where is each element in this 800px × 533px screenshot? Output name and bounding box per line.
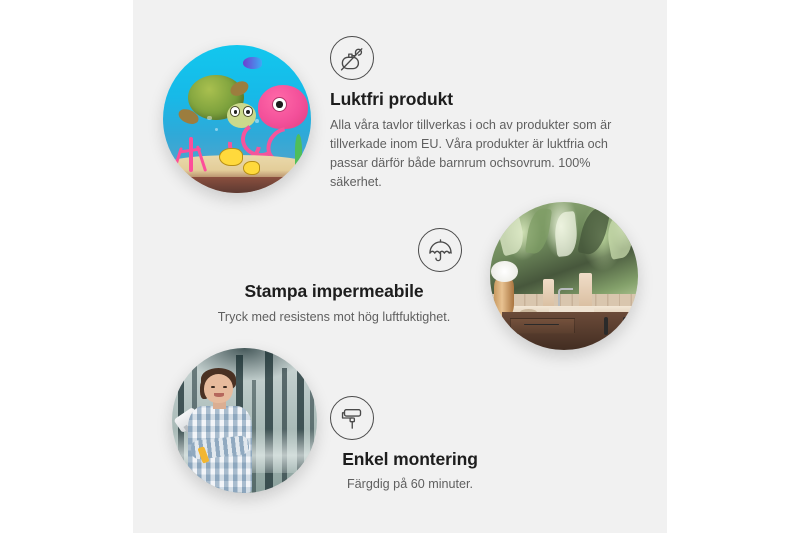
seaweed xyxy=(295,134,302,170)
white-flowers xyxy=(491,261,518,282)
tree-canopy-shadow xyxy=(172,348,317,397)
underwater-scene xyxy=(163,45,311,193)
umbrella-icon xyxy=(418,228,462,272)
feature-3-body: Färgdig på 60 minuter. xyxy=(300,475,520,494)
screenshot-root: Luktfri produkt Alla våra tavlor tillver… xyxy=(0,0,800,533)
feature-3-icon-wrap xyxy=(300,396,520,449)
feature-3-title: Enkel montering xyxy=(300,449,520,471)
wooden-vanity-cabinet xyxy=(502,312,638,350)
smile xyxy=(214,393,224,397)
bathroom-bottle xyxy=(543,279,553,309)
sea-bottom-strip xyxy=(163,177,311,193)
yellow-fish xyxy=(219,148,243,166)
no-fragrance-icon xyxy=(330,36,374,80)
water-bubble xyxy=(255,119,259,123)
feature-2-body: Tryck med resistens mot hög luftfuktighe… xyxy=(200,308,468,327)
eye xyxy=(223,386,227,389)
cabinet-handle xyxy=(604,317,608,335)
turtle-eye xyxy=(230,106,240,116)
woman-paint-roller-forest-photo[interactable] xyxy=(172,348,317,493)
blue-fish xyxy=(243,57,262,69)
face xyxy=(204,374,233,403)
paint-roller-icon xyxy=(330,396,374,440)
pink-coral xyxy=(172,137,210,173)
cabinet-handle xyxy=(623,317,627,335)
feature-luktfri-produkt: Luktfri produkt Alla våra tavlor tillver… xyxy=(330,36,630,192)
feature-2-title: Stampa impermeabile xyxy=(200,281,468,303)
bathroom-botanical-wallpaper-photo[interactable] xyxy=(490,202,638,350)
bathroom-bottle xyxy=(579,273,592,309)
yellow-fish-small xyxy=(243,161,260,175)
content-panel: Luktfri produkt Alla våra tavlor tillver… xyxy=(133,0,667,533)
feature-enkel-montering: Enkel montering Färgdig på 60 minuter. xyxy=(300,396,520,494)
feature-2-icon-wrap xyxy=(200,228,468,281)
underwater-cartoon-photo[interactable] xyxy=(163,45,311,193)
feature-1-title: Luktfri produkt xyxy=(330,89,630,111)
turtle-eye xyxy=(243,106,253,116)
bathroom-scene xyxy=(490,202,638,350)
feature-1-icon-wrap xyxy=(330,36,630,80)
forest-mural-scene xyxy=(172,348,317,493)
feature-1-body: Alla våra tavlor tillverkas i och av pro… xyxy=(330,116,630,193)
feature-stampa-impermeabile: Stampa impermeabile Tryck med resistens … xyxy=(200,228,468,327)
vanity-drawer xyxy=(510,318,575,334)
